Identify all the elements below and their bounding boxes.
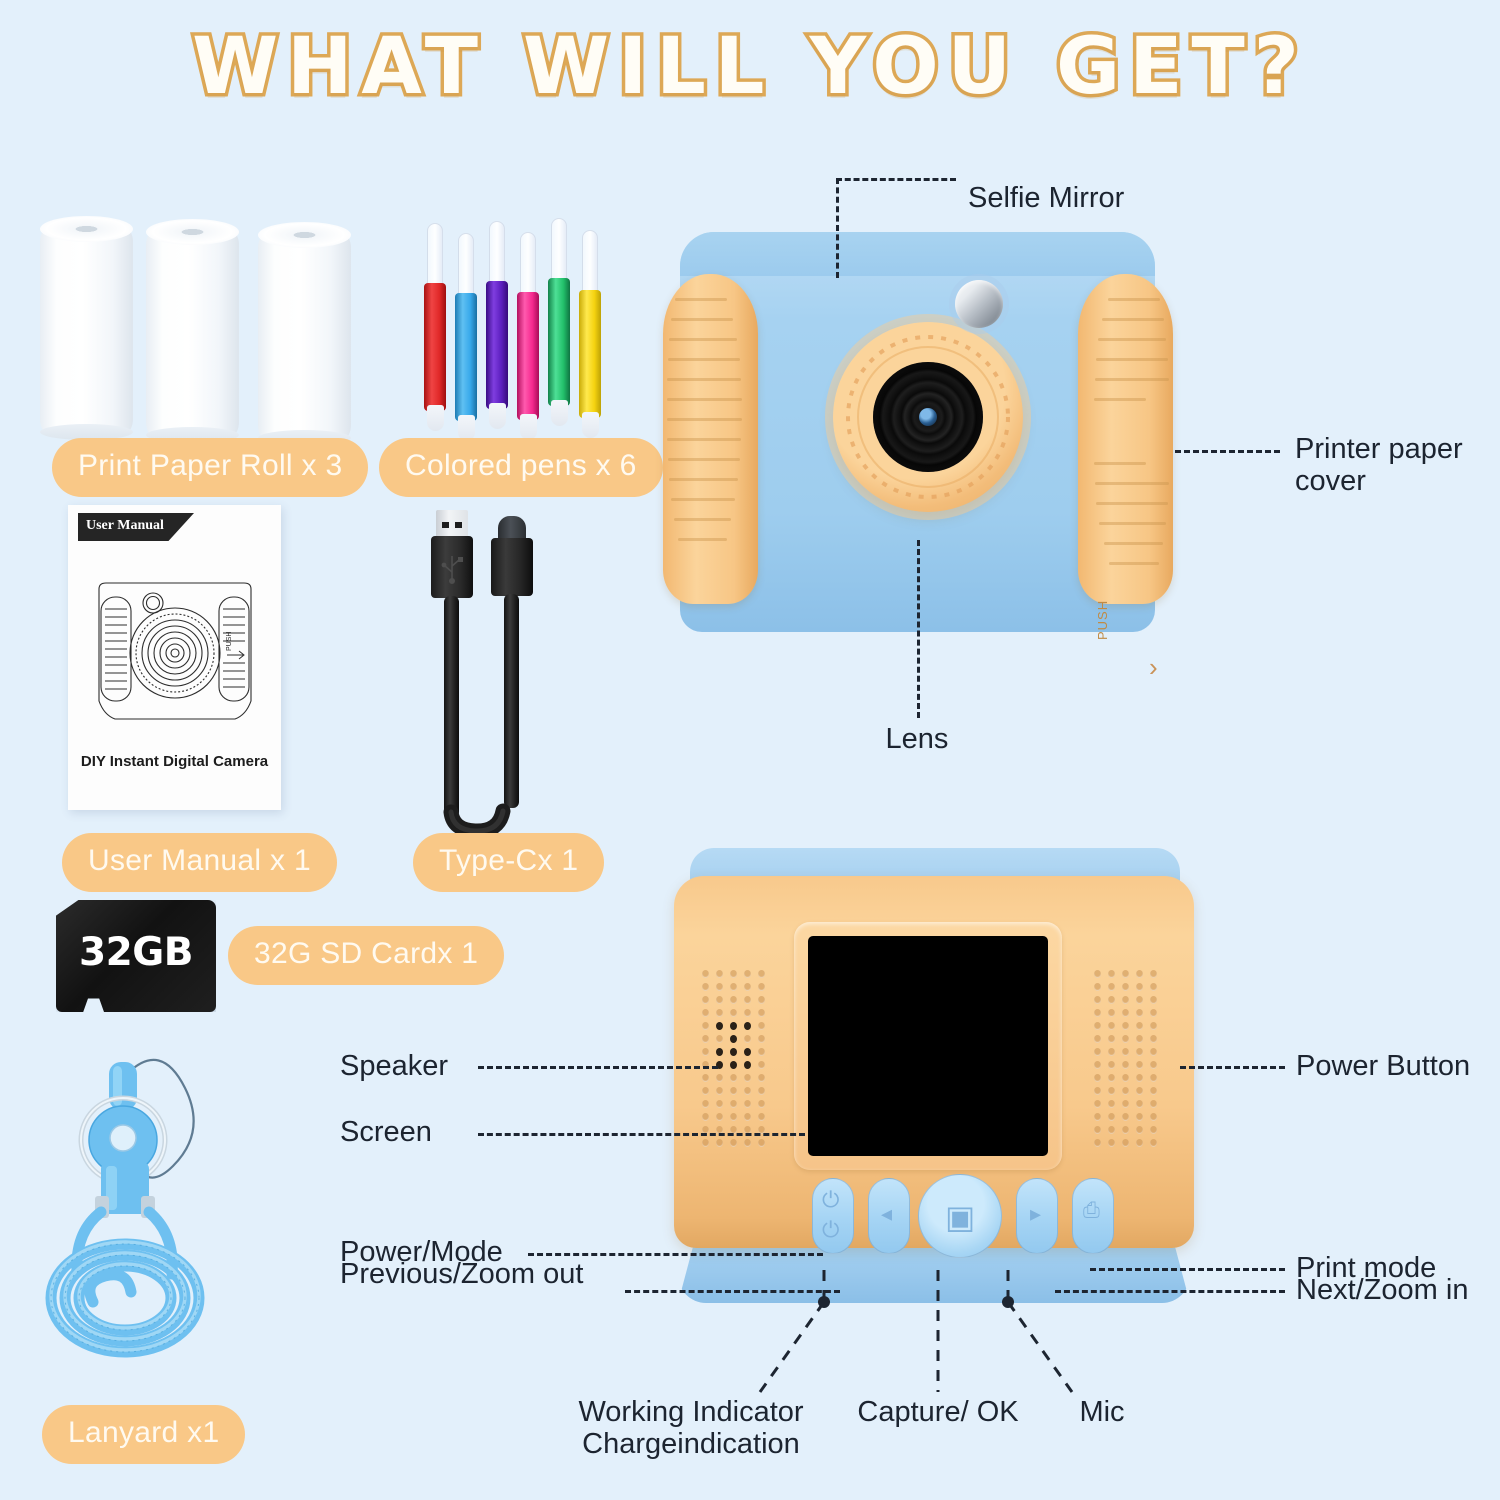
pen-red (424, 223, 446, 428)
pen-blue (455, 233, 477, 438)
lcd-screen[interactable] (808, 936, 1048, 1156)
callout-screen: Screen (340, 1116, 432, 1150)
callout-lens: Lens (857, 723, 977, 757)
leader-selfie-mirror-vertical (836, 178, 839, 278)
right-arrow-icon: ▸ (1030, 1201, 1041, 1227)
cable-wire-right (504, 594, 519, 808)
leader-lens-vertical (917, 540, 920, 718)
infographic-canvas: WHAT WILL YOU GET? Print Paper Roll x 3 (0, 0, 1500, 1500)
leader-power-button (1180, 1066, 1285, 1069)
svg-text:PUSH: PUSH (226, 632, 233, 651)
bottom-leader-lines (760, 1240, 1200, 1420)
callout-working-indicator-line1: Working Indicator (556, 1396, 826, 1428)
pen-green (548, 218, 570, 423)
callout-printer-paper-cover: Printer paper cover (1295, 433, 1463, 498)
manual-camera-sketch: PUSH (85, 567, 265, 737)
sd-card: 32GB (56, 900, 216, 1012)
label-sd-card: 32G SD Cardx 1 (228, 926, 504, 985)
speaker-grille-right (1090, 968, 1160, 1148)
power-icon: ⏻ (822, 1187, 839, 1213)
camera-front-grip-left (663, 274, 758, 604)
callout-capture-ok: Capture/ OK (848, 1396, 1028, 1430)
type-c-cable (425, 508, 555, 828)
callout-printer-paper-cover-line2: cover (1295, 465, 1463, 497)
camera-front-top-edge (680, 232, 1155, 276)
lanyard (35, 1040, 245, 1400)
label-colored-pens: Colored pens x 6 (379, 438, 663, 497)
camera-lens (873, 362, 983, 472)
lanyard-illustration (35, 1040, 245, 1400)
paper-roll (146, 231, 239, 436)
paper-roll (40, 228, 133, 433)
camera-back-view: ⏻ ⏻ ◂ ▣ ▸ ⎙ (660, 848, 1205, 1303)
leader-printer-cover (1175, 450, 1280, 453)
page-title: WHAT WILL YOU GET? (0, 22, 1500, 112)
callout-speaker: Speaker (340, 1050, 448, 1084)
label-user-manual: User Manual x 1 (62, 833, 337, 892)
manual-banner-text: User Manual (86, 518, 164, 534)
manual-cover-caption: DIY Instant Digital Camera (68, 753, 281, 770)
callout-printer-paper-cover-line1: Printer paper (1295, 433, 1463, 465)
label-print-paper-roll: Print Paper Roll x 3 (52, 438, 368, 497)
camera-icon: ▣ (945, 1198, 975, 1236)
pen-yellow (579, 230, 601, 435)
callout-mic: Mic (1042, 1396, 1162, 1430)
left-arrow-icon: ◂ (881, 1201, 892, 1227)
speaker-grille-left (698, 968, 768, 1148)
leader-selfie-mirror-horizontal (836, 178, 956, 181)
callout-next-zoom-in: Next/Zoom in (1296, 1274, 1468, 1308)
pen-pink (517, 232, 539, 437)
label-type-c: Type-Cx 1 (413, 833, 604, 892)
sd-card-capacity: 32GB (56, 930, 216, 975)
camera-front-grip-right-printer-cover[interactable] (1078, 274, 1173, 604)
leader-speaker (478, 1066, 718, 1069)
push-text: PUSH (1095, 600, 1110, 640)
usb-symbol-icon (431, 536, 473, 598)
callout-working-indicator-line2: Chargeindication (556, 1428, 826, 1460)
callout-power-button: Power Button (1296, 1050, 1470, 1084)
usb-c-plug (491, 538, 533, 596)
printer-icon: ⎙ (1083, 1199, 1100, 1223)
leader-screen (478, 1133, 805, 1136)
pen-purple (486, 221, 508, 426)
usb-a-plug (431, 536, 473, 598)
user-manual-booklet: User Manual PUSH DIY Instant Digital Cam… (68, 505, 281, 810)
callout-working-indicator: Working Indicator Chargeindication (556, 1396, 826, 1461)
callout-previous-zoom-out: Previous/Zoom out (340, 1258, 583, 1292)
chevron-right-icon: › (1149, 654, 1158, 680)
cable-wire-left (444, 596, 459, 818)
cable-bottom-bend (437, 800, 527, 834)
callout-selfie-mirror: Selfie Mirror (968, 182, 1124, 216)
selfie-mirror (955, 280, 1003, 328)
label-lanyard: Lanyard x1 (42, 1405, 245, 1464)
paper-roll (258, 234, 351, 439)
